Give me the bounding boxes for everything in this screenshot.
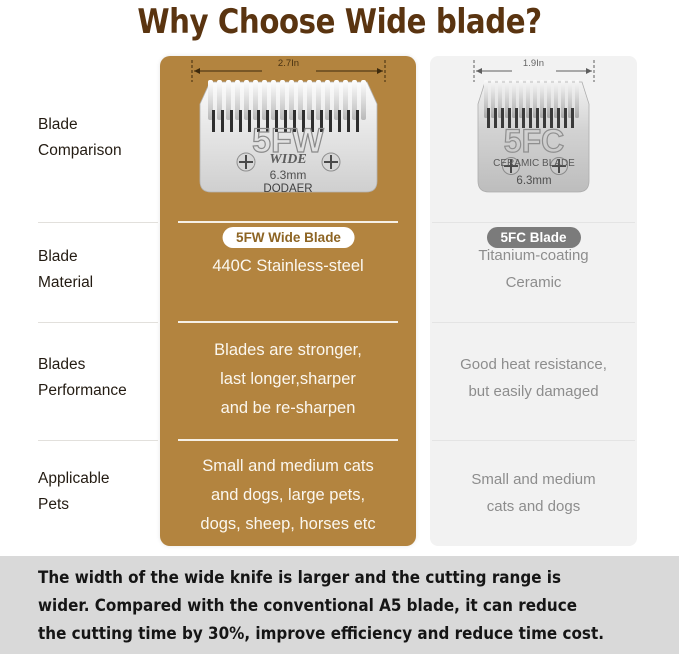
alternative-applicable-pets: Small and mediumcats and dogs [431,466,636,520]
alternative-blade-material: Titanium-coatingCeramic [431,242,636,296]
row-label-blades-performance: BladesPerformance [38,352,160,404]
comparison-rows: BladeComparison BladeMaterial 440C Stain… [0,52,679,550]
table-row: BladesPerformance Blades are stronger,la… [0,322,679,440]
alternative-blades-performance: Good heat resistance,but easily damaged [431,351,636,405]
page-title: Why Choose Wide blade? [48,0,632,46]
footer-band: The width of the wide knife is larger an… [0,556,679,654]
row-label-blade-comparison: BladeComparison [38,112,160,164]
table-row: BladeMaterial 440C Stainless-steel Titan… [0,222,679,322]
table-row: BladeComparison [0,52,679,222]
featured-applicable-pets: Small and medium catsand dogs, large pet… [164,452,412,539]
featured-blade-material: 440C Stainless-steel [164,252,412,281]
featured-blades-performance: Blades are stronger,last longer,sharpera… [164,336,412,423]
footer-note: The width of the wide knife is larger an… [38,564,608,648]
table-row: ApplicablePets Small and medium catsand … [0,440,679,550]
row-label-applicable-pets: ApplicablePets [38,466,160,518]
row-label-blade-material: BladeMaterial [38,244,160,296]
comparison-table: 2.7In [0,52,679,550]
